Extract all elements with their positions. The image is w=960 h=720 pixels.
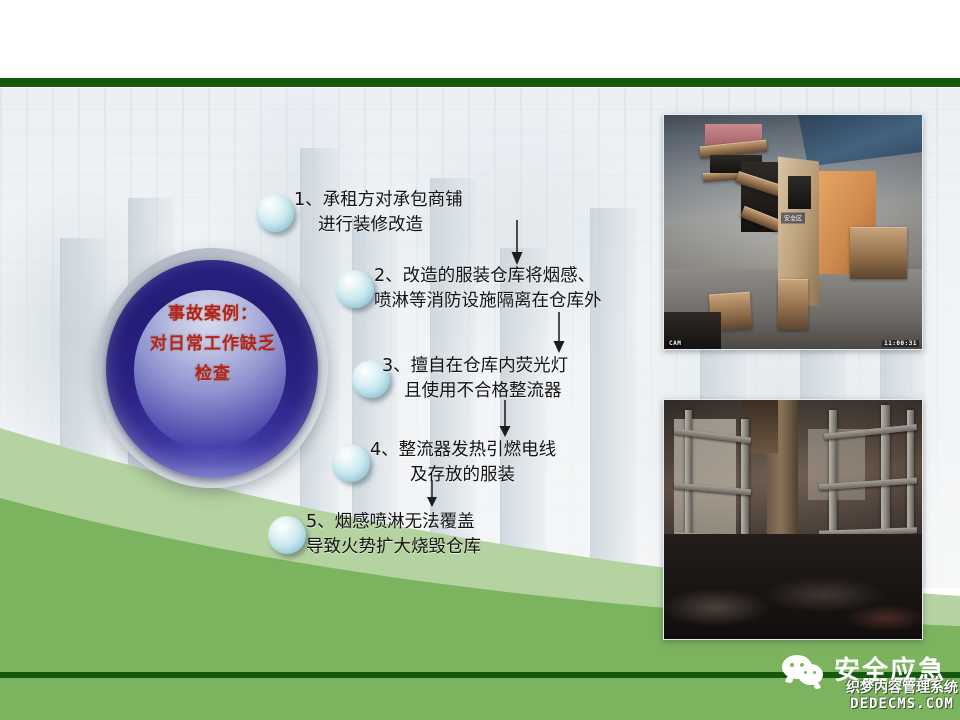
- step-text-3: 3、擅自在仓库内荧光灯 且使用不合格整流器: [382, 354, 568, 404]
- step-text-2: 2、改造的服装仓库将烟感、 喷淋等消防设施隔离在仓库外: [374, 264, 602, 314]
- flow-arrow-1-to-2: [509, 220, 525, 266]
- step-5-line-2: 导致火势扩大烧毁仓库: [306, 535, 481, 560]
- step-2-line-1: 2、改造的服装仓库将烟感、: [374, 266, 595, 286]
- photo-stamp-right: 11:00:31: [882, 340, 919, 347]
- watermark-line-1: 织梦内容管理系统: [846, 681, 958, 697]
- step-text-4: 4、整流器发热引燃电线 及存放的服装: [370, 438, 556, 488]
- flow-arrow-4-to-5: [424, 480, 440, 508]
- photo-burned-warehouse: [663, 399, 923, 640]
- step-3-line-1: 3、擅自在仓库内荧光灯: [382, 356, 568, 376]
- wechat-icon: [782, 655, 828, 687]
- watermark-line-2: DEDECMS.COM: [846, 697, 958, 713]
- step-bullet-sphere-1: [256, 194, 294, 232]
- flow-arrow-3-to-4: [497, 400, 513, 438]
- step-bullet-sphere-5: [268, 516, 306, 554]
- step-text-5: 5、烟感喷淋无法覆盖 导致火势扩大烧毁仓库: [306, 510, 481, 560]
- step-bullet-sphere-4: [332, 444, 370, 482]
- photo-stamp-left: CAM: [667, 340, 683, 347]
- step-1-line-2: 进行装修改造: [294, 213, 463, 238]
- flow-arrow-2-to-3: [551, 312, 567, 354]
- step-2-line-2: 喷淋等消防设施隔离在仓库外: [374, 289, 602, 314]
- site-watermark: 织梦内容管理系统 DEDECMS.COM: [846, 681, 958, 712]
- step-flow-list: 1、承租方对承包商铺 进行装修改造 2、改造的服装仓库将烟感、 喷淋等消防设施隔…: [256, 168, 676, 588]
- step-3-line-2: 且使用不合格整流器: [382, 379, 568, 404]
- step-bullet-sphere-2: [336, 270, 374, 308]
- photo-cctv-warehouse: 安全区 CAM 11:00:31: [663, 114, 923, 350]
- step-text-1: 1、承租方对承包商铺 进行装修改造: [294, 188, 463, 238]
- step-4-line-2: 及存放的服装: [370, 463, 556, 488]
- top-accent-bar: [0, 78, 960, 87]
- slide-canvas: 事故案例： 对日常工作缺乏 检查 1、承租方对承包商铺 进行装修改造 2、改造的…: [0, 0, 960, 720]
- photo-inner-label: 安全区: [781, 212, 805, 223]
- step-1-line-1: 1、承租方对承包商铺: [294, 190, 463, 210]
- step-5-line-1: 5、烟感喷淋无法覆盖: [306, 512, 475, 532]
- step-4-line-1: 4、整流器发热引燃电线: [370, 440, 556, 460]
